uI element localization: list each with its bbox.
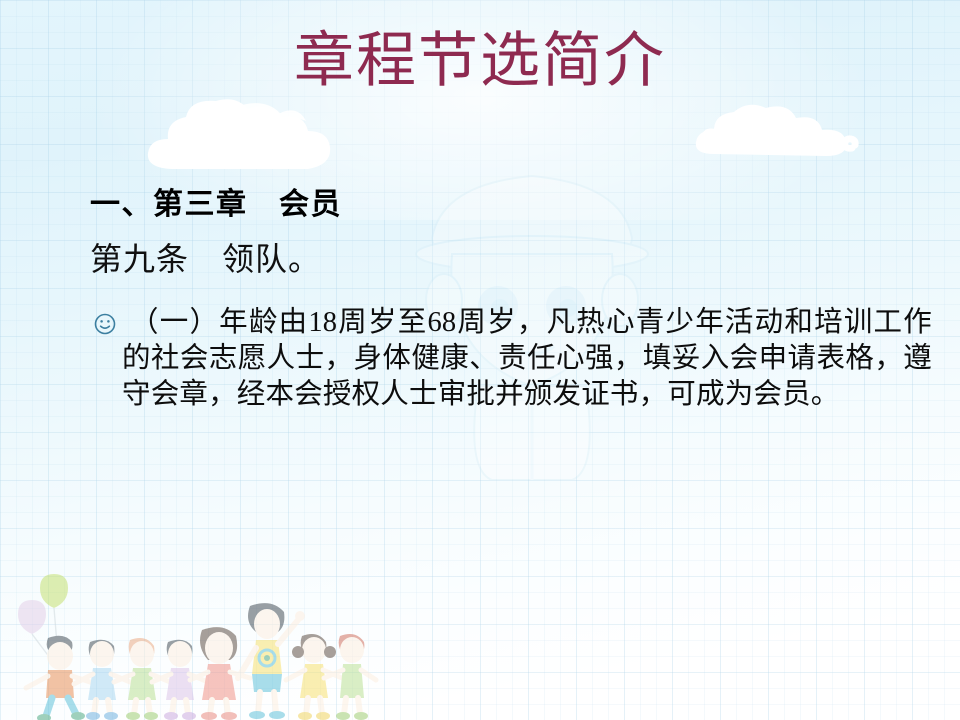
slide: 章程节选简介 一、第三章 会员 第九条 领队。 （一）年龄由18周岁至68周岁，…: [0, 0, 960, 720]
smiley-face-icon: [92, 311, 118, 337]
slide-body: 一、第三章 会员 第九条 领队。 （一）年龄由18周岁至68周岁，凡热心青少年活…: [0, 0, 960, 720]
article-subheading: 第九条 领队。: [90, 240, 321, 278]
bullet-list-item: （一）年龄由18周岁至68周岁，凡热心青少年活动和培训工作的社会志愿人士，身体健…: [92, 305, 932, 413]
section-heading: 一、第三章 会员: [90, 187, 342, 223]
bullet-paragraph-text: （一）年龄由18周岁至68周岁，凡热心青少年活动和培训工作的社会志愿人士，身体健…: [122, 305, 932, 413]
